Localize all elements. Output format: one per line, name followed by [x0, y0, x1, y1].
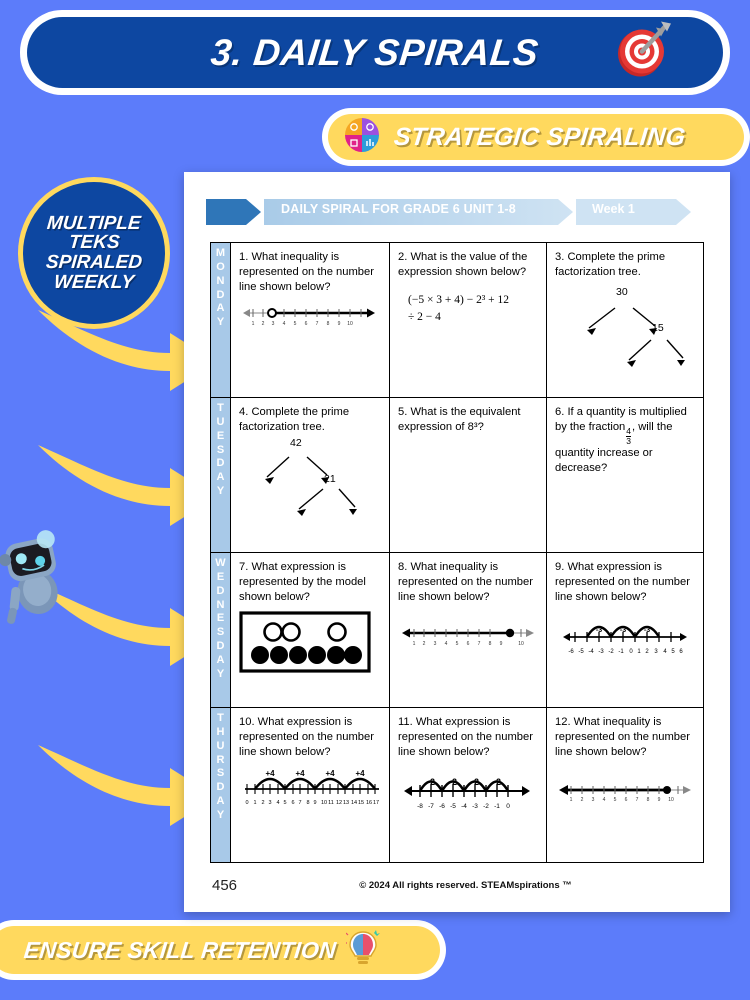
question-text: What expression is represented on the nu…	[555, 561, 690, 603]
svg-text:+4: +4	[355, 769, 365, 778]
question-number: 8.	[398, 561, 407, 573]
svg-text:0: 0	[245, 800, 248, 806]
svg-text:5: 5	[283, 800, 286, 806]
worksheet-ribbon: DAILY SPIRAL FOR GRADE 6 UNIT 1-8 Week 1	[206, 197, 706, 227]
table-row: WEDNESDAY 7. What expression is represen…	[211, 553, 704, 708]
copyright-text: © 2024 All rights reserved. STEAMspirati…	[359, 880, 572, 891]
svg-text:2: 2	[423, 641, 426, 647]
number-line-arcs-figure: +4+4 +4+4 012 345	[239, 762, 381, 813]
svg-text:5: 5	[614, 797, 617, 803]
svg-text:8: 8	[327, 321, 330, 327]
question-number: 11.	[398, 716, 413, 728]
svg-text:3: 3	[268, 800, 271, 806]
svg-text:13: 13	[343, 800, 349, 806]
bottom-pill: ENSURE SKILL RETENTION	[0, 926, 440, 974]
expression-line-2: ÷ 2 − 4	[408, 309, 538, 326]
svg-text:4: 4	[283, 321, 286, 327]
day-label-thursday: THURSDAY	[211, 708, 231, 863]
question-number: 1.	[239, 251, 248, 263]
svg-text:3: 3	[272, 321, 275, 327]
svg-text:6: 6	[625, 797, 628, 803]
question-cell-1[interactable]: 1. What inequality is represented on the…	[231, 243, 390, 398]
daily-spiral-table: MONDAY 1. What inequality is represented…	[210, 242, 704, 863]
svg-text:1: 1	[413, 641, 416, 647]
worksheet-footer: 456 © 2024 All rights reserved. STEAMspi…	[184, 877, 730, 894]
svg-text:+4: +4	[325, 769, 335, 778]
question-cell-12[interactable]: 12. What inequality is represented on th…	[547, 708, 704, 863]
svg-text:0: 0	[506, 803, 510, 810]
multiple-teks-badge: MULTIPLE TEKS SPIRALED WEEKLY	[18, 177, 170, 329]
question-number: 7.	[239, 561, 248, 573]
svg-text:2: 2	[261, 800, 264, 806]
svg-text:-1: -1	[494, 803, 500, 810]
page-number: 456	[212, 877, 237, 894]
svg-text:12: 12	[336, 800, 342, 806]
question-number: 6.	[555, 406, 564, 418]
number-line-figure: 123 456 789 10	[239, 301, 381, 340]
question-cell-8[interactable]: 8. What inequality is represented on the…	[390, 553, 547, 708]
svg-text:-5: -5	[450, 803, 456, 810]
table-row: TUESDAY 4. Complete the prime factorizat…	[211, 398, 704, 553]
teks-line-3: SPIRALED	[45, 253, 143, 273]
question-cell-9[interactable]: 9. What expression is represented on the…	[547, 553, 704, 708]
svg-text:-3: -3	[598, 649, 604, 655]
question-text: What is the equivalent expression of 8³?	[398, 406, 521, 433]
svg-text:17: 17	[373, 800, 379, 806]
svg-text:7: 7	[478, 641, 481, 647]
strategic-pill: STRATEGIC SPIRALING	[328, 114, 744, 160]
tree-root-value: 30	[616, 286, 628, 298]
svg-text:7: 7	[316, 321, 319, 327]
day-label-wednesday: WEDNESDAY	[211, 553, 231, 708]
svg-text:10: 10	[518, 641, 524, 647]
counter-model-figure	[239, 611, 381, 678]
table-row: MONDAY 1. What inequality is represented…	[211, 243, 704, 398]
question-number: 10.	[239, 716, 255, 728]
ribbon-week: Week 1	[592, 202, 635, 216]
number-line-arcs-figure: -3-3-3 -6-5-4 -3-2-1 0	[555, 611, 695, 664]
question-cell-5[interactable]: 5. What is the equivalent expression of …	[390, 398, 547, 553]
svg-text:6: 6	[305, 321, 308, 327]
svg-text:0: 0	[629, 649, 633, 655]
tree-child-value: 15	[652, 322, 664, 334]
svg-text:-2: -2	[608, 649, 614, 655]
svg-text:6: 6	[291, 800, 294, 806]
bottom-label: ENSURE SKILL RETENTION	[23, 937, 338, 964]
svg-text:8: 8	[647, 797, 650, 803]
svg-text:16: 16	[366, 800, 372, 806]
svg-text:1: 1	[253, 800, 256, 806]
robot-mascot-icon	[0, 520, 76, 635]
question-cell-2[interactable]: 2. What is the value of the expression s…	[390, 243, 547, 398]
top-title-banner: 3. DAILY SPIRALS	[20, 10, 730, 95]
svg-text:8: 8	[489, 641, 492, 647]
day-label-tuesday: TUESDAY	[211, 398, 231, 553]
svg-text:-4: -4	[588, 649, 594, 655]
bottom-banner: ENSURE SKILL RETENTION	[0, 920, 446, 980]
svg-text:6: 6	[679, 649, 683, 655]
svg-text:2: 2	[645, 649, 649, 655]
question-number: 12.	[555, 716, 571, 728]
question-number: 2.	[398, 251, 407, 263]
svg-text:2: 2	[262, 321, 265, 327]
svg-text:4: 4	[445, 641, 448, 647]
question-text: What is the value of the expression show…	[398, 251, 527, 278]
question-cell-11[interactable]: 11. What expression is represented on th…	[390, 708, 547, 863]
four-quadrant-logo-icon	[342, 115, 382, 160]
teks-line-4: WEEKLY	[53, 273, 135, 293]
question-cell-4[interactable]: 4. Complete the prime factorization tree…	[231, 398, 390, 553]
question-number: 3.	[555, 251, 564, 263]
question-cell-10[interactable]: 10. What expression is represented on th…	[231, 708, 390, 863]
question-text: What expression is represented on the nu…	[398, 716, 533, 758]
svg-text:3: 3	[434, 641, 437, 647]
page-title: 3. DAILY SPIRALS	[209, 32, 541, 74]
day-label-monday: MONDAY	[211, 243, 231, 398]
question-cell-7[interactable]: 7. What expression is represented by the…	[231, 553, 390, 708]
worksheet-page: DAILY SPIRAL FOR GRADE 6 UNIT 1-8 Week 1…	[184, 172, 730, 912]
question-text: What inequality is represented on the nu…	[239, 251, 374, 293]
svg-text:-6: -6	[439, 803, 445, 810]
question-text: What inequality is represented on the nu…	[398, 561, 533, 603]
factor-tree-figure: 30 15	[555, 286, 695, 366]
number-line-arcs-figure: -2-2 -2-2 -8-7-6 -5-4-	[398, 766, 538, 817]
svg-text:4: 4	[603, 797, 606, 803]
question-text: Complete the prime factorization tree.	[555, 251, 665, 278]
factor-tree-figure: 42 21	[239, 441, 381, 521]
svg-text:9: 9	[313, 800, 316, 806]
svg-text:3: 3	[654, 649, 658, 655]
svg-text:4: 4	[276, 800, 279, 806]
svg-text:-6: -6	[568, 649, 574, 655]
strategic-label: STRATEGIC SPIRALING	[392, 123, 686, 152]
svg-text:5: 5	[671, 649, 675, 655]
expression-line-1: (−5 × 3 + 4) − 2³ + 12	[408, 292, 538, 309]
tree-root-value: 42	[290, 437, 302, 449]
lightbulb-brain-icon	[346, 929, 380, 972]
svg-text:-3: -3	[472, 803, 478, 810]
svg-text:-2: -2	[483, 803, 489, 810]
question-text: What inequality is represented on the nu…	[555, 716, 690, 758]
svg-text:10: 10	[347, 321, 353, 327]
question-cell-6[interactable]: 6. If a quantity is multiplied by the fr…	[547, 398, 704, 553]
target-icon	[609, 17, 675, 88]
teks-line-2: TEKS	[68, 233, 120, 253]
svg-text:-1: -1	[618, 649, 624, 655]
svg-text:+4: +4	[295, 769, 305, 778]
svg-text:15: 15	[358, 800, 364, 806]
svg-text:1: 1	[570, 797, 573, 803]
svg-text:-7: -7	[428, 803, 434, 810]
svg-text:5: 5	[456, 641, 459, 647]
svg-text:7: 7	[636, 797, 639, 803]
svg-text:3: 3	[592, 797, 595, 803]
question-text: What expression is represented by the mo…	[239, 561, 366, 603]
svg-text:6: 6	[467, 641, 470, 647]
svg-text:9: 9	[658, 797, 661, 803]
svg-text:9: 9	[500, 641, 503, 647]
teks-line-1: MULTIPLE	[46, 214, 141, 234]
svg-text:11: 11	[328, 800, 334, 806]
question-number: 5.	[398, 406, 407, 418]
question-text: What expression is represented on the nu…	[239, 716, 374, 758]
svg-text:+4: +4	[265, 769, 275, 778]
question-number: 4.	[239, 406, 248, 418]
title-bar: 3. DAILY SPIRALS	[27, 17, 723, 88]
fraction-four-thirds: 43	[626, 427, 631, 446]
svg-text:5: 5	[294, 321, 297, 327]
question-cell-3[interactable]: 3. Complete the prime factorization tree…	[547, 243, 704, 398]
svg-text:-4: -4	[461, 803, 467, 810]
svg-text:7: 7	[298, 800, 301, 806]
question-text: Complete the prime factorization tree.	[239, 406, 349, 433]
ribbon-title: DAILY SPIRAL FOR GRADE 6 UNIT 1-8	[281, 202, 516, 216]
number-line-figure: 123 456 789 10	[555, 778, 695, 813]
svg-text:-8: -8	[417, 803, 423, 810]
svg-text:8: 8	[306, 800, 309, 806]
question-number: 9.	[555, 561, 564, 573]
svg-text:1: 1	[252, 321, 255, 327]
number-line-figure: 123 456 789 10	[398, 621, 538, 658]
svg-text:14: 14	[351, 800, 357, 806]
svg-text:2: 2	[581, 797, 584, 803]
table-row: THURSDAY 10. What expression is represen…	[211, 708, 704, 863]
tree-child-value: 21	[324, 473, 336, 485]
strategic-spiraling-badge: STRATEGIC SPIRALING	[322, 108, 750, 166]
svg-text:10: 10	[321, 800, 327, 806]
svg-text:4: 4	[663, 649, 667, 655]
svg-text:-5: -5	[578, 649, 584, 655]
svg-text:10: 10	[668, 797, 674, 803]
svg-text:1: 1	[637, 649, 641, 655]
svg-text:9: 9	[338, 321, 341, 327]
